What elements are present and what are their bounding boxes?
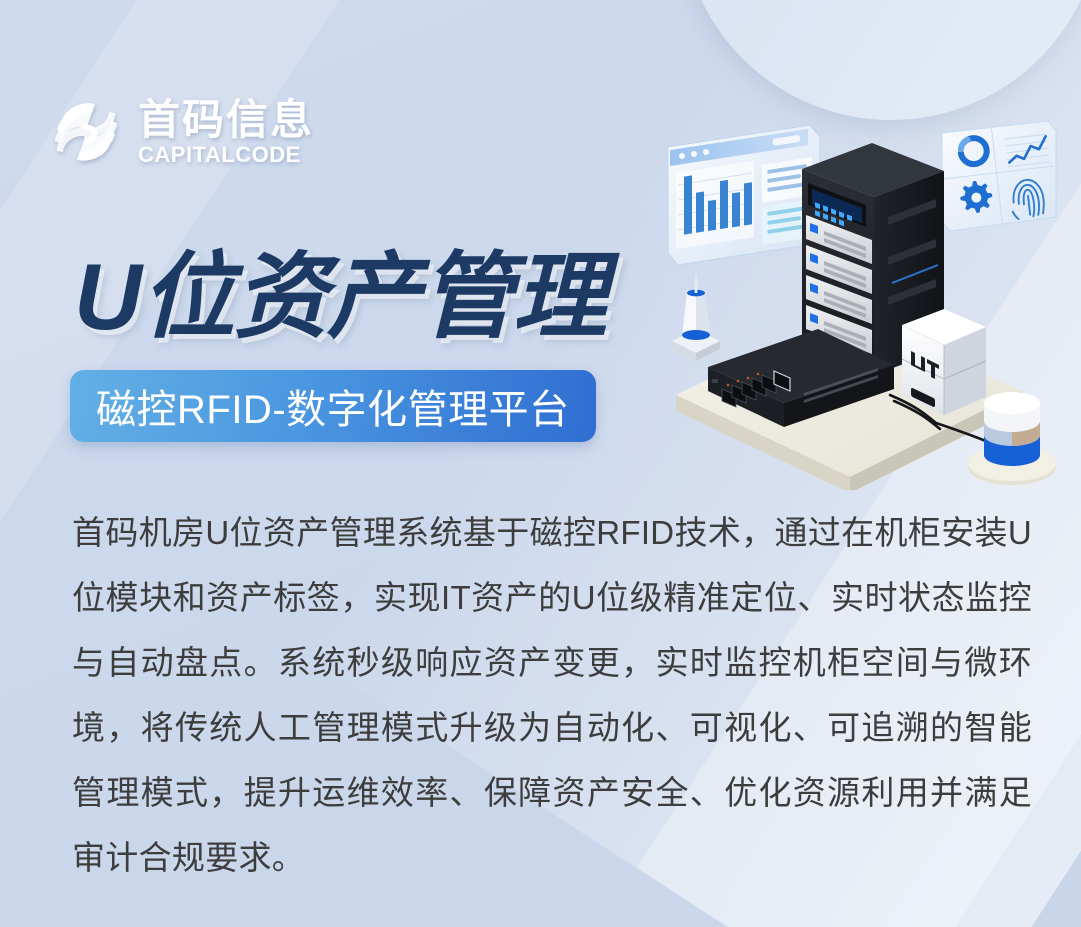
description-paragraph: 首码机房U位资产管理系统基于磁控RFID技术，通过在机柜安装U位模块和资产标签，… [72, 500, 1032, 890]
icon-grid-panel [942, 121, 1056, 231]
brand-name-en: CAPITALCODE [138, 144, 314, 166]
subtitle-badge: 磁控RFID-数字化管理平台 [70, 370, 596, 442]
dashboard-bar-chart-panel [668, 125, 820, 265]
subtitle-badge-label: 磁控RFID-数字化管理平台 [96, 377, 570, 435]
description-block: 首码机房U位资产管理系统基于磁控RFID技术，通过在机柜安装U位模块和资产标签，… [72, 500, 1032, 890]
capitalcode-s-mark-icon [48, 96, 124, 168]
poster-canvas: 首码信息 CAPITALCODE U位资产管理 磁控RFID-数字化管理平台 首… [0, 0, 1081, 927]
brand-wordmark: 首码信息 CAPITALCODE [138, 99, 314, 166]
antenna-beacon [672, 271, 720, 361]
page-title: U位资产管理 [74, 250, 606, 344]
brand-name-cn: 首码信息 [138, 99, 314, 141]
brand-logo: 首码信息 CAPITALCODE [48, 96, 314, 168]
rfid-reader-cube [902, 309, 986, 415]
hero-illustration [650, 95, 1070, 490]
